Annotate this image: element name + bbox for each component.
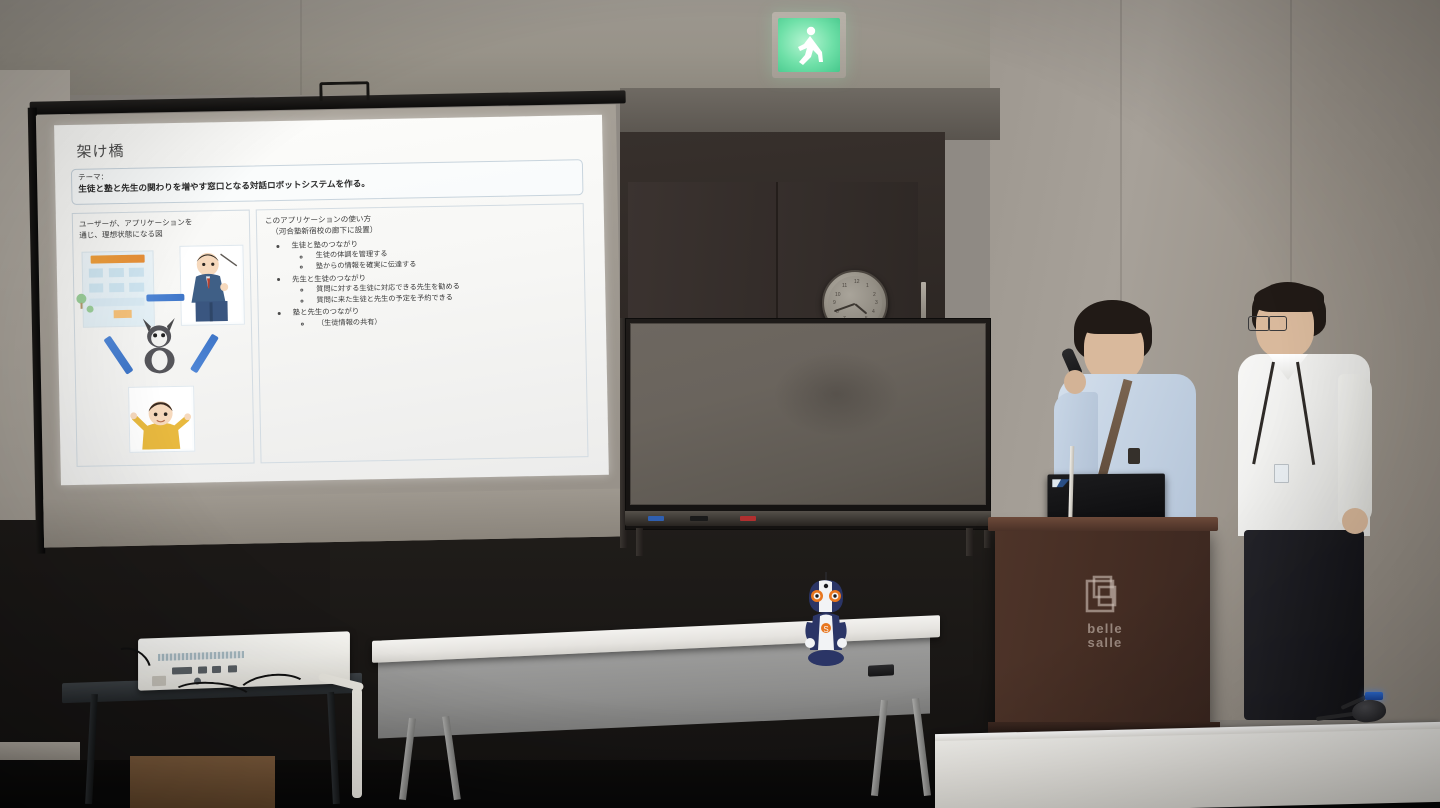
arrow-right — [190, 334, 219, 374]
strap-clip — [1128, 448, 1140, 464]
marker-red[interactable] — [740, 516, 756, 521]
id-badge — [1274, 464, 1289, 483]
concept-diagram — [79, 245, 249, 460]
slide-theme-box: テーマ： 生徒と塾と先生の関わりを増やす窓口となる対話ロボットシステムを作る。 — [71, 159, 584, 205]
slide-right-panel: このアプリケーションの使い方 （河合塾新宿校の廊下に設置） 生徒と塾のつながり … — [256, 203, 589, 463]
clock-numeral: 2 — [873, 293, 876, 298]
venue-brand-logo: belle salle — [1060, 575, 1150, 649]
arm-right — [1338, 374, 1372, 524]
exit-running-man-icon — [778, 18, 840, 72]
presentation-room-photo: 12 1 2 3 4 5 6 7 8 9 10 11 架け橋 テーマ： 生徒と塾… — [0, 0, 1440, 808]
podium-top-surface — [988, 517, 1218, 531]
bullet-text: 塾と先生のつながり — [293, 307, 360, 317]
left-panel-heading-line2: 通じ、理想状態になる図 — [79, 227, 243, 241]
hair-fringe — [1078, 304, 1150, 334]
clock-numeral: 10 — [835, 293, 841, 298]
slide-left-panel: ユーザーが、アプリケーションを 通じ、理想状態になる図 — [72, 210, 255, 467]
whiteboard-leg-left — [636, 528, 643, 556]
clock-numeral: 3 — [875, 301, 878, 306]
glasses-lens-2 — [1268, 316, 1287, 331]
bullet-text: 生徒と塾のつながり — [291, 239, 358, 249]
trousers — [1244, 530, 1364, 720]
robot-illustration — [137, 316, 182, 375]
clock-numeral: 9 — [833, 301, 836, 306]
projected-slide: 架け橋 テーマ： 生徒と塾と先生の関わりを増やす窓口となる対話ロボットシステムを… — [54, 115, 609, 485]
student-illustration — [128, 386, 195, 453]
sota-robot: S — [797, 572, 855, 668]
cardboard-box — [130, 756, 275, 808]
white-cable — [352, 688, 362, 798]
projector-port — [172, 667, 192, 675]
wall-seam — [300, 0, 302, 95]
clock-hour-hand — [854, 303, 867, 314]
glasses — [1248, 316, 1270, 331]
teacher-illustration — [179, 245, 245, 326]
whiteboard-leg-right — [966, 528, 973, 556]
emergency-exit-sign — [772, 12, 846, 78]
projector-vent — [158, 651, 244, 661]
hand — [1342, 508, 1368, 534]
bullet-text: 先生と生徒のつながり — [292, 273, 366, 283]
whiteboard-marker-tray — [625, 511, 991, 526]
bullet-item: 生徒と塾のつながり 生徒の体調を管理する 塾からの情報を確実に伝達する — [265, 234, 576, 273]
projector-port — [212, 666, 221, 673]
arrow-left — [103, 335, 133, 374]
usage-bullet-list: 生徒と塾のつながり 生徒の体調を管理する 塾からの情報を確実に伝達する 先生と生… — [265, 234, 577, 329]
whiteboard — [625, 318, 991, 530]
laptop-sticker — [1052, 479, 1069, 487]
whiteboard-smudge — [773, 351, 900, 437]
arrow-top — [146, 294, 184, 302]
hair-fringe — [1254, 284, 1324, 312]
projection-screen: 架け橋 テーマ： 生徒と塾と先生の関わりを増やす窓口となる対話ロボットシステムを… — [32, 102, 632, 553]
screen-lower-area — [43, 488, 624, 547]
usb-hub[interactable] — [1365, 692, 1383, 700]
bullet-item: 先生と生徒のつながり 質問に対する生徒に対応できる先生を勧める 質問に来た生徒と… — [266, 268, 577, 307]
presenter-standing — [1238, 282, 1388, 722]
projector-port — [152, 676, 166, 686]
clock-numeral: 4 — [872, 310, 875, 315]
projector-port — [198, 666, 207, 673]
clock-numeral: 12 — [854, 280, 860, 285]
clock-numeral: 11 — [842, 284, 847, 289]
clock-numeral: 1 — [866, 284, 869, 289]
projector-port — [228, 665, 237, 672]
slide-title: 架け橋 — [76, 140, 124, 162]
laptop[interactable] — [1048, 474, 1165, 521]
clock-minute-hand — [834, 303, 855, 312]
brand-line-1: belle — [1060, 622, 1150, 636]
bullet-item: 塾と先生のつながり （生徒情報の共有） — [267, 302, 577, 330]
brand-line-2: salle — [1060, 636, 1150, 650]
screen-handle[interactable] — [319, 81, 369, 101]
hand — [1064, 370, 1086, 394]
svg-text:S: S — [823, 625, 828, 634]
marker-black[interactable] — [690, 516, 708, 521]
belle-salle-mark-icon — [1084, 575, 1126, 617]
marker-blue[interactable] — [648, 516, 664, 521]
whiteboard-surface — [630, 323, 986, 505]
remote-device[interactable] — [868, 664, 894, 676]
school-signboard — [91, 255, 145, 264]
